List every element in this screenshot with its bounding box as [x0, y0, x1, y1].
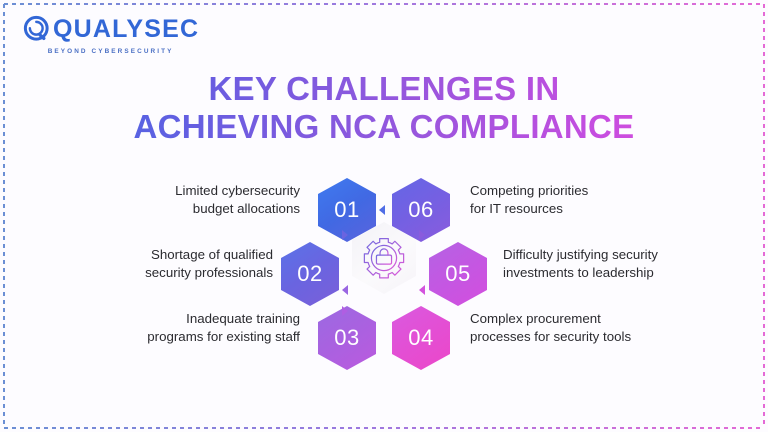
frame-border-left: [3, 4, 5, 428]
label-item-03: Inadequate training programs for existin…: [52, 310, 300, 347]
label-item-01-line-1: Limited cybersecurity: [60, 182, 300, 200]
frame-border-top: [4, 3, 764, 5]
label-item-04-line-2: processes for security tools: [470, 328, 720, 346]
connector-arrow-left-lower: [342, 285, 348, 295]
connector-arrow-bottom: [342, 306, 348, 316]
hexagon-shape-04[interactable]: 04: [392, 306, 450, 370]
page-title-line-2: ACHIEVING NCA COMPLIANCE: [0, 108, 768, 146]
label-item-04-line-1: Complex procurement: [470, 310, 720, 328]
connector-arrow-top: [379, 205, 385, 215]
label-item-02-line-1: Shortage of qualified: [30, 246, 273, 264]
hexagon-number-05: 05: [445, 261, 470, 287]
label-item-05: Difficulty justifying security investmen…: [503, 246, 743, 283]
hexagon-number-06: 06: [408, 197, 433, 223]
connector-arrow-left-upper: [342, 230, 348, 240]
hexagon-diagram: 01 06 02 05 03: [0, 160, 768, 375]
label-item-02: Shortage of qualified security professio…: [30, 246, 273, 283]
hexagon-number-02: 02: [297, 261, 322, 287]
label-item-06: Competing priorities for IT resources: [470, 182, 720, 219]
hexagon-item-04[interactable]: 04: [392, 306, 450, 370]
label-item-05-line-1: Difficulty justifying security: [503, 246, 743, 264]
hexagon-shape-02[interactable]: 02: [281, 242, 339, 306]
page-title-line-1: KEY CHALLENGES IN: [0, 70, 768, 108]
hexagon-number-04: 04: [408, 325, 433, 351]
label-item-03-line-2: programs for existing staff: [52, 328, 300, 346]
label-item-02-line-2: security professionals: [30, 264, 273, 282]
label-item-03-line-1: Inadequate training: [52, 310, 300, 328]
hexagon-item-05[interactable]: 05: [429, 242, 487, 306]
label-item-05-line-2: investments to leadership: [503, 264, 743, 282]
connector-arrow-right-upper: [419, 230, 425, 240]
label-item-06-line-2: for IT resources: [470, 200, 720, 218]
qualysec-q-mark-icon: [22, 14, 52, 44]
label-item-04: Complex procurement processes for securi…: [470, 310, 720, 347]
logo-row: QUALYSEC: [22, 14, 199, 44]
label-item-06-line-1: Competing priorities: [470, 182, 720, 200]
infographic-slide: QUALYSEC BEYOND CYBERSECURITY KEY CHALLE…: [0, 0, 768, 432]
frame-border-bottom: [4, 427, 764, 429]
connector-arrow-right-lower: [419, 285, 425, 295]
hexagon-shape-05[interactable]: 05: [429, 242, 487, 306]
brand-logo: QUALYSEC BEYOND CYBERSECURITY: [22, 14, 199, 55]
logo-tagline: BEYOND CYBERSECURITY: [48, 48, 174, 55]
label-item-01: Limited cybersecurity budget allocations: [60, 182, 300, 219]
hexagon-item-02[interactable]: 02: [281, 242, 339, 306]
page-title: KEY CHALLENGES IN ACHIEVING NCA COMPLIAN…: [0, 70, 768, 147]
label-item-01-line-2: budget allocations: [60, 200, 300, 218]
frame-border-right: [763, 4, 765, 428]
logo-wordmark: QUALYSEC: [53, 17, 199, 42]
hexagon-number-01: 01: [334, 197, 359, 223]
hexagon-number-03: 03: [334, 325, 359, 351]
